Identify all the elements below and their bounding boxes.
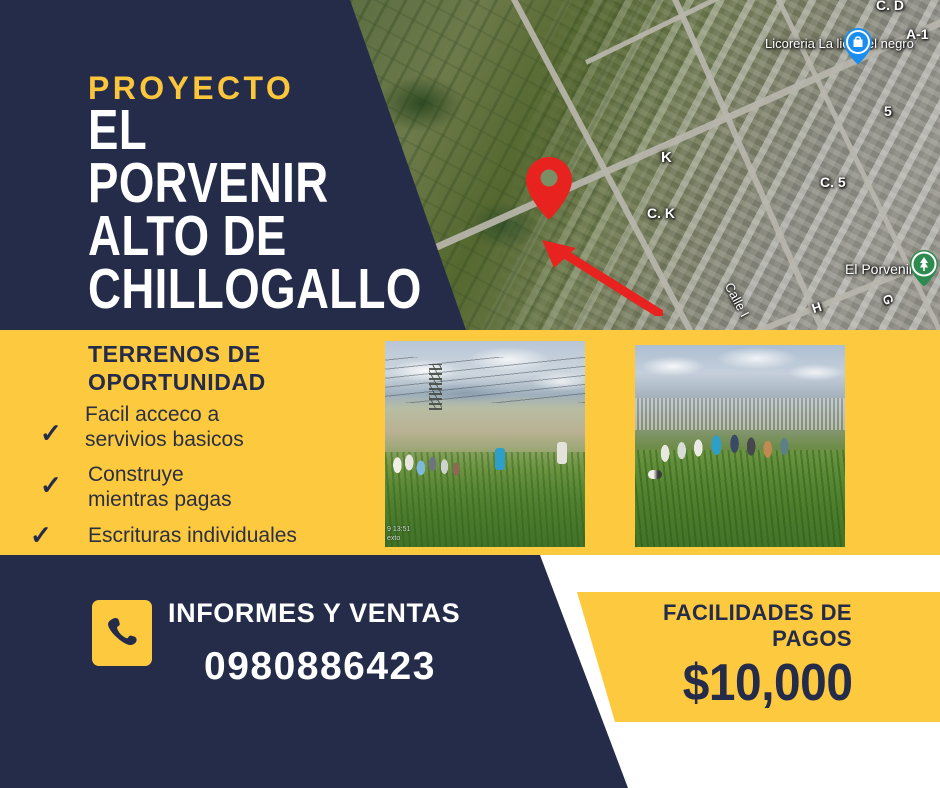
map-label-c5: C. 5	[820, 175, 846, 190]
photo-field-visit: 9 13:51 exto	[377, 333, 593, 555]
photo-person	[557, 442, 567, 464]
map-label-el-porvenir: El Porvenir	[845, 262, 913, 277]
contact-heading: INFORMES Y VENTAS	[168, 598, 460, 629]
feature-item-3: Escrituras individuales	[88, 523, 297, 548]
phone-icon	[107, 616, 137, 649]
price-heading: FACILIDADES DE PAGOS	[592, 600, 852, 652]
photo-people-group	[389, 438, 473, 506]
page-title: EL PORVENIR ALTO DE CHILLOGALLO	[88, 104, 360, 316]
photo-group-tour	[627, 337, 853, 555]
map-label-5: 5	[884, 104, 892, 119]
check-icon: ✓	[40, 472, 62, 498]
feature-item-1: Facil acceco a servivios basicos	[85, 402, 244, 452]
photo-timestamp: 9 13:51 exto	[387, 525, 410, 543]
photo-people-group	[656, 418, 807, 487]
contact-phone-number[interactable]: 0980886423	[204, 645, 436, 689]
map-label-cd: C. D	[876, 0, 904, 13]
photo-dog	[648, 470, 662, 479]
phone-icon-badge[interactable]	[92, 600, 152, 666]
check-icon: ✓	[40, 420, 62, 446]
park-marker-icon	[910, 250, 938, 286]
price-amount: $10,000	[682, 653, 852, 713]
pointer-arrow-icon	[538, 238, 663, 316]
photo-transmission-tower	[429, 364, 442, 410]
feature-item-2: Construye mientras pagas	[88, 462, 232, 512]
real-estate-flyer: Licoreria La lico del negro K C. K C. D …	[0, 0, 940, 788]
photo-sky	[635, 345, 845, 406]
shop-marker-icon	[844, 28, 872, 64]
photo-person	[495, 448, 505, 470]
map-label-licoreria: Licoreria La lico del negro	[765, 35, 915, 52]
map-label-a1: A-1	[906, 27, 929, 42]
photo-power-lines	[385, 357, 585, 402]
location-pin-icon	[526, 157, 572, 219]
features-heading: TERRENOS DE OPORTUNIDAD	[88, 340, 388, 396]
check-icon: ✓	[30, 522, 52, 548]
map-label-k: K	[661, 150, 672, 165]
map-label-ck: C. K	[647, 206, 675, 221]
